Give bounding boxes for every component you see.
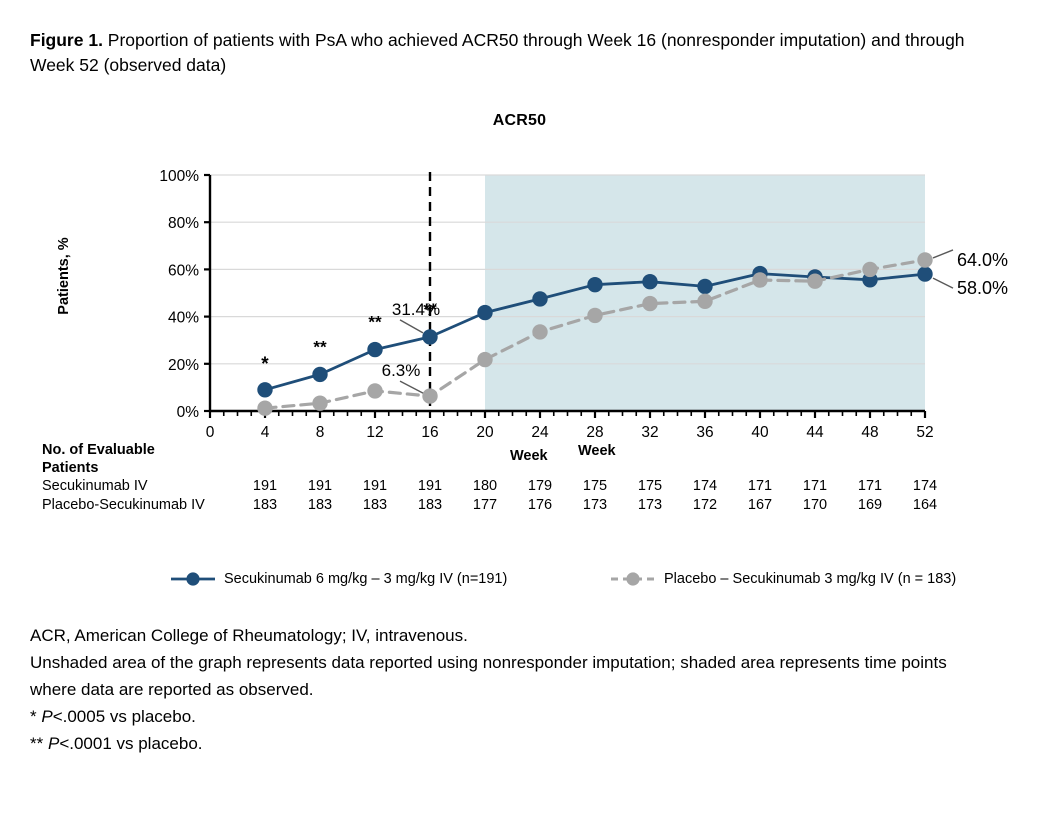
data-point-secukinumab[interactable]: [808, 270, 822, 284]
y-axis-title: Patients, %: [56, 206, 72, 346]
x-axis-tick-label: 52: [916, 424, 933, 441]
footnote-double-asterisk-mark: **: [30, 734, 48, 753]
x-axis-tick-label: 48: [861, 424, 878, 441]
x-axis-tick-label: 40: [751, 424, 769, 441]
risk-table-cell: 171: [743, 477, 777, 496]
significance-asterisk: **: [368, 313, 382, 332]
series-line-secukinumab: [265, 274, 925, 390]
risk-table-cell: 177: [468, 496, 502, 515]
x-axis-tick-label: 28: [586, 424, 603, 441]
data-point-secukinumab[interactable]: [643, 275, 657, 289]
risk-table-header-line2: Patients: [42, 459, 1002, 477]
data-point-secukinumab[interactable]: [258, 383, 272, 397]
endpoint-leader-58: [933, 278, 953, 288]
risk-table-cell: 191: [358, 477, 392, 496]
risk-table-week-header: Week: [578, 443, 616, 459]
legend-item-placebo[interactable]: Placebo – Secukinumab 3 mg/kg IV (n = 18…: [610, 566, 956, 592]
data-point-placebo[interactable]: [368, 384, 382, 398]
data-point-placebo[interactable]: [698, 294, 712, 308]
x-axis-tick-label: 4: [261, 424, 270, 441]
data-point-secukinumab[interactable]: [698, 279, 712, 293]
callout-leader-6-3: [400, 381, 423, 393]
risk-table-cell: 172: [688, 496, 722, 515]
x-axis-tick-label: 32: [641, 424, 658, 441]
risk-table-cell: 174: [688, 477, 722, 496]
y-axis-tick-label: 40%: [168, 310, 199, 327]
data-point-placebo[interactable]: [753, 273, 767, 287]
x-axis-tick-label: 12: [366, 424, 383, 441]
risk-table-cell: 191: [413, 477, 447, 496]
risk-table-cell: 183: [248, 496, 282, 515]
data-point-placebo[interactable]: [918, 253, 932, 267]
legend-symbol-line-solid-circle: [170, 570, 216, 588]
risk-table-cell: 173: [578, 496, 612, 515]
data-point-secukinumab[interactable]: [313, 367, 327, 381]
x-axis-tick-label: 36: [696, 424, 713, 441]
y-axis-tick-label: 100%: [159, 168, 199, 185]
chart-legend: Secukinumab 6 mg/kg – 3 mg/kg IV (n=191)…: [170, 566, 990, 592]
figure-footnotes: ACR, American College of Rheumatology; I…: [30, 622, 990, 757]
footnote-shading: Unshaded area of the graph represents da…: [30, 649, 990, 703]
data-point-placebo[interactable]: [808, 274, 822, 288]
data-point-placebo[interactable]: [423, 389, 437, 403]
data-point-placebo[interactable]: [478, 352, 492, 366]
endpoint-leader-64: [933, 250, 953, 258]
legend-symbol-line-dashed-circle: [610, 570, 656, 588]
risk-table-header-line1: No. of Evaluable: [42, 441, 1002, 459]
significance-asterisk: **: [313, 337, 327, 356]
evaluable-patients-table: No. of Evaluable Patients Secukinumab IV…: [42, 441, 1002, 515]
callout-label-6-3: 6.3%: [382, 361, 421, 380]
x-axis-tick-label: 24: [531, 424, 549, 441]
data-point-secukinumab[interactable]: [533, 292, 547, 306]
endpoint-label-58: 58.0%: [957, 278, 1008, 298]
risk-table-cell: 167: [743, 496, 777, 515]
risk-table-cell: 183: [303, 496, 337, 515]
y-axis-tick-label: 0%: [177, 404, 200, 421]
figure-caption: Figure 1. Proportion of patients with Ps…: [30, 28, 990, 78]
risk-table-cell: 173: [633, 496, 667, 515]
figure-caption-lead: Figure 1.: [30, 30, 103, 50]
risk-table-cell: 175: [578, 477, 612, 496]
data-point-secukinumab[interactable]: [918, 267, 932, 281]
footnote-single-asterisk-p: P: [41, 707, 52, 726]
observed-data-shaded-region: [485, 175, 925, 411]
risk-table-cell: 179: [523, 477, 557, 496]
data-point-placebo[interactable]: [863, 262, 877, 276]
risk-table-cell: 171: [853, 477, 887, 496]
footnote-double-asterisk-p: P: [48, 734, 59, 753]
risk-table-cell: 170: [798, 496, 832, 515]
data-point-placebo[interactable]: [643, 296, 657, 310]
risk-table-cell: 175: [633, 477, 667, 496]
footnote-double-asterisk-text: <.0001 vs placebo.: [59, 734, 202, 753]
y-axis-tick-label: 60%: [168, 262, 199, 279]
x-axis-tick-label: 8: [316, 424, 325, 441]
data-point-placebo[interactable]: [313, 396, 327, 410]
callout-leader-31-4: [400, 320, 423, 333]
risk-table-cell: 180: [468, 477, 502, 496]
data-point-placebo[interactable]: [588, 308, 602, 322]
significance-asterisk: **: [423, 300, 437, 319]
chart-title: ACR50: [0, 112, 1039, 130]
series-line-placebo: [265, 260, 925, 408]
footnote-abbreviations: ACR, American College of Rheumatology; I…: [30, 622, 990, 649]
data-point-secukinumab[interactable]: [368, 342, 382, 356]
footnote-single-asterisk-text: <.0005 vs placebo.: [53, 707, 196, 726]
data-point-secukinumab[interactable]: [753, 266, 767, 280]
legend-item-secukinumab[interactable]: Secukinumab 6 mg/kg – 3 mg/kg IV (n=191): [170, 566, 507, 592]
data-point-secukinumab[interactable]: [588, 278, 602, 292]
x-axis-tick-label: 44: [806, 424, 824, 441]
legend-item-label: Placebo – Secukinumab 3 mg/kg IV (n = 18…: [664, 571, 956, 587]
risk-table-cell: 174: [908, 477, 942, 496]
risk-table-cell: 164: [908, 496, 942, 515]
risk-table-cell: 176: [523, 496, 557, 515]
risk-table-row-label: Secukinumab IV: [42, 477, 148, 496]
footnote-single-asterisk-mark: *: [30, 707, 41, 726]
data-point-secukinumab[interactable]: [863, 273, 877, 287]
risk-table-cell: 183: [358, 496, 392, 515]
risk-table-body: Secukinumab IV19119119119118017917517517…: [42, 477, 1002, 515]
footnote-double-asterisk: ** P<.0001 vs placebo.: [30, 730, 990, 757]
x-axis-tick-label: 20: [476, 424, 494, 441]
figure-page: Figure 1. Proportion of patients with Ps…: [0, 0, 1039, 814]
risk-table-cell: 191: [303, 477, 337, 496]
x-axis-tick-label: 16: [421, 424, 438, 441]
risk-table-cell: 191: [248, 477, 282, 496]
endpoint-label-64: 64.0%: [957, 250, 1008, 270]
y-axis-tick-label: 20%: [168, 357, 199, 374]
x-axis-tick-label: 0: [206, 424, 215, 441]
risk-table-cell: 171: [798, 477, 832, 496]
data-point-secukinumab[interactable]: [423, 330, 437, 344]
risk-table-cell: 169: [853, 496, 887, 515]
data-point-placebo[interactable]: [258, 401, 272, 415]
risk-table-cell: 183: [413, 496, 447, 515]
data-point-secukinumab[interactable]: [478, 305, 492, 319]
significance-asterisk: *: [261, 354, 269, 375]
risk-table-row: Placebo-Secukinumab IV183183183183177176…: [42, 496, 1002, 515]
data-point-placebo[interactable]: [533, 325, 547, 339]
footnote-single-asterisk: * P<.0005 vs placebo.: [30, 703, 990, 730]
risk-table-row: Secukinumab IV19119119119118017917517517…: [42, 477, 1002, 496]
figure-caption-text: Proportion of patients with PsA who achi…: [30, 30, 965, 75]
risk-table-row-label: Placebo-Secukinumab IV: [42, 496, 205, 515]
callout-label-31-4: 31.4%: [392, 300, 440, 319]
legend-item-label: Secukinumab 6 mg/kg – 3 mg/kg IV (n=191): [224, 571, 507, 587]
y-axis-tick-label: 80%: [168, 215, 199, 232]
